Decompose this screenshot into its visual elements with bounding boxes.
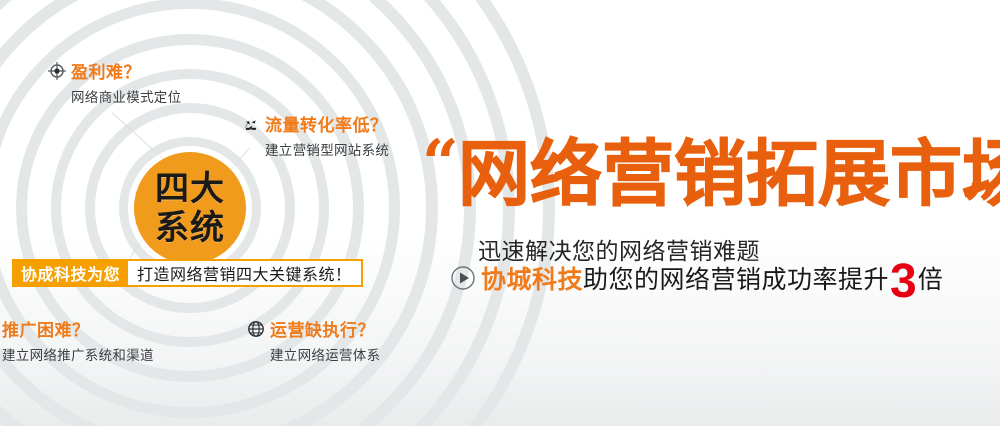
- four-systems-circle: 四大 系统: [134, 152, 246, 264]
- problem-heading-profit: 盈利难？: [48, 58, 181, 83]
- tagline-brand-label: 协成科技为您: [12, 259, 128, 287]
- tagline-bar: 协成科技为您 打造网络营销四大关键系统！: [12, 259, 363, 287]
- play-circle-icon: [450, 265, 476, 291]
- problem-subtitle-promotion: 建立网络推广系统和渠道: [2, 344, 154, 364]
- quote-close-icon: ”: [963, 176, 1000, 240]
- problem-heading-promotion: 推广困难？: [2, 316, 154, 341]
- recycle-icon: [242, 115, 260, 133]
- tagline-message-label: 打造网络营销四大关键系统！: [128, 259, 363, 287]
- target-crosshair-icon: [48, 62, 66, 80]
- problem-item-profit: 盈利难？ 网络商业模式定位: [48, 58, 181, 106]
- problem-title-profit: 盈利难？: [71, 58, 141, 83]
- problem-heading-conversion: 流量转化率低？: [242, 111, 389, 136]
- problem-item-conversion: 流量转化率低？ 建立营销型网站系统: [242, 111, 389, 159]
- multiplier-unit: 倍: [918, 260, 943, 296]
- subheadline-secondary: 协城科技 助您的网络营销成功率提升 3 倍: [450, 259, 943, 297]
- problem-item-promotion: 推广困难？ 建立网络推广系统和渠道: [2, 316, 154, 364]
- page-title: 网络营销拓展市场: [458, 140, 1000, 208]
- problem-subtitle-operations: 建立网络运营体系: [270, 344, 380, 364]
- problem-item-operations: 运营缺执行？ 建立网络运营体系: [247, 316, 380, 364]
- problem-subtitle-profit: 网络商业模式定位: [71, 86, 181, 106]
- brand-name-label: 协城科技: [481, 260, 583, 296]
- globe-icon: [247, 320, 265, 338]
- marketing-banner: 四大 系统 盈利难？ 网络商业模式定位: [0, 0, 1000, 426]
- circle-line-1: 四大: [155, 172, 225, 206]
- problem-subtitle-conversion: 建立营销型网站系统: [265, 139, 389, 159]
- problem-title-promotion: 推广困难？: [2, 316, 90, 341]
- headline-block: “ 网络营销拓展市场 ”: [420, 138, 1000, 243]
- problem-title-conversion: 流量转化率低？: [265, 111, 388, 136]
- multiplier-number: 3: [890, 263, 917, 301]
- problem-heading-operations: 运营缺执行？: [247, 316, 380, 341]
- subheadline-text: 助您的网络营销成功率提升: [583, 260, 889, 296]
- circle-line-2: 系统: [155, 211, 225, 245]
- problem-title-operations: 运营缺执行？: [270, 316, 375, 341]
- quote-open-icon: “: [422, 132, 459, 196]
